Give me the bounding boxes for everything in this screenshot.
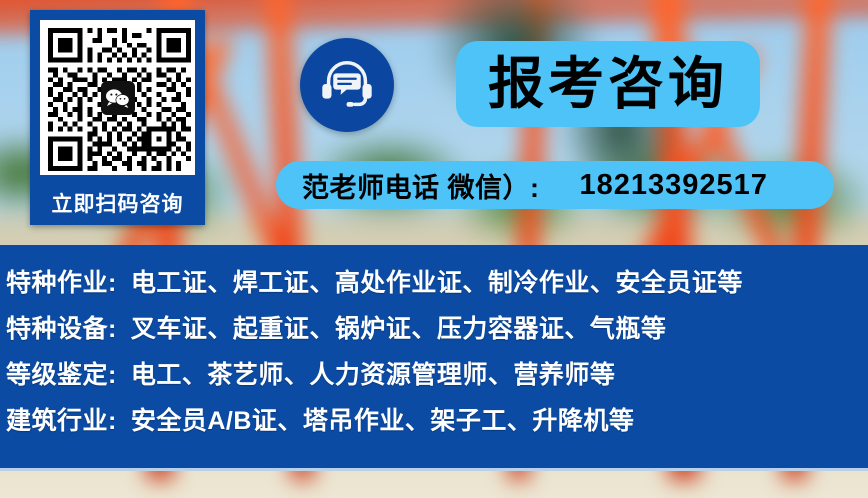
list-item-value: 安全员A/B证、塔吊作业、架子工、升降机等: [131, 401, 635, 437]
list-item-label: 建筑行业:: [6, 401, 117, 437]
list-item: 等级鉴定: 电工、茶艺师、人力资源管理师、营养师等: [0, 355, 868, 401]
qr-code-frame: [40, 20, 195, 175]
list-item-value: 叉车证、起重证、锅炉证、压力容器证、气瓶等: [131, 309, 667, 345]
list-item-label: 等级鉴定:: [6, 355, 117, 391]
list-item-label: 特种作业:: [6, 263, 117, 299]
service-list-panel: 特种作业: 电工证、焊工证、高处作业证、制冷作业、安全员证等 特种设备: 叉车证…: [0, 245, 868, 471]
service-badge[interactable]: [300, 38, 394, 132]
list-item: 建筑行业: 安全员A/B证、塔吊作业、架子工、升降机等: [0, 401, 868, 447]
contact-label: 范老师电话 微信）:: [302, 166, 540, 205]
headset-chat-icon: [316, 54, 378, 116]
qr-code-card[interactable]: 立即扫码咨询: [30, 10, 205, 225]
qr-card-caption: 立即扫码咨询: [34, 188, 201, 218]
list-item-label: 特种设备:: [6, 309, 117, 345]
list-item: 特种作业: 电工证、焊工证、高处作业证、制冷作业、安全员证等: [0, 263, 868, 309]
contact-bar[interactable]: 范老师电话 微信）: 18213392517: [276, 161, 834, 209]
list-item-value: 电工、茶艺师、人力资源管理师、营养师等: [131, 355, 616, 391]
list-item: 特种设备: 叉车证、起重证、锅炉证、压力容器证、气瓶等: [0, 309, 868, 355]
page-title: 报考咨询: [488, 56, 728, 112]
title-badge: 报考咨询: [456, 41, 760, 127]
service-list: 特种作业: 电工证、焊工证、高处作业证、制冷作业、安全员证等 特种设备: 叉车证…: [0, 263, 868, 447]
promo-banner: 立即扫码咨询 报考咨询 范老师电话 微信）: 18213392517: [0, 0, 868, 498]
contact-phone-number[interactable]: 18213392517: [580, 169, 768, 202]
wechat-icon: [101, 81, 135, 115]
list-item-value: 电工证、焊工证、高处作业证、制冷作业、安全员证等: [131, 263, 743, 299]
